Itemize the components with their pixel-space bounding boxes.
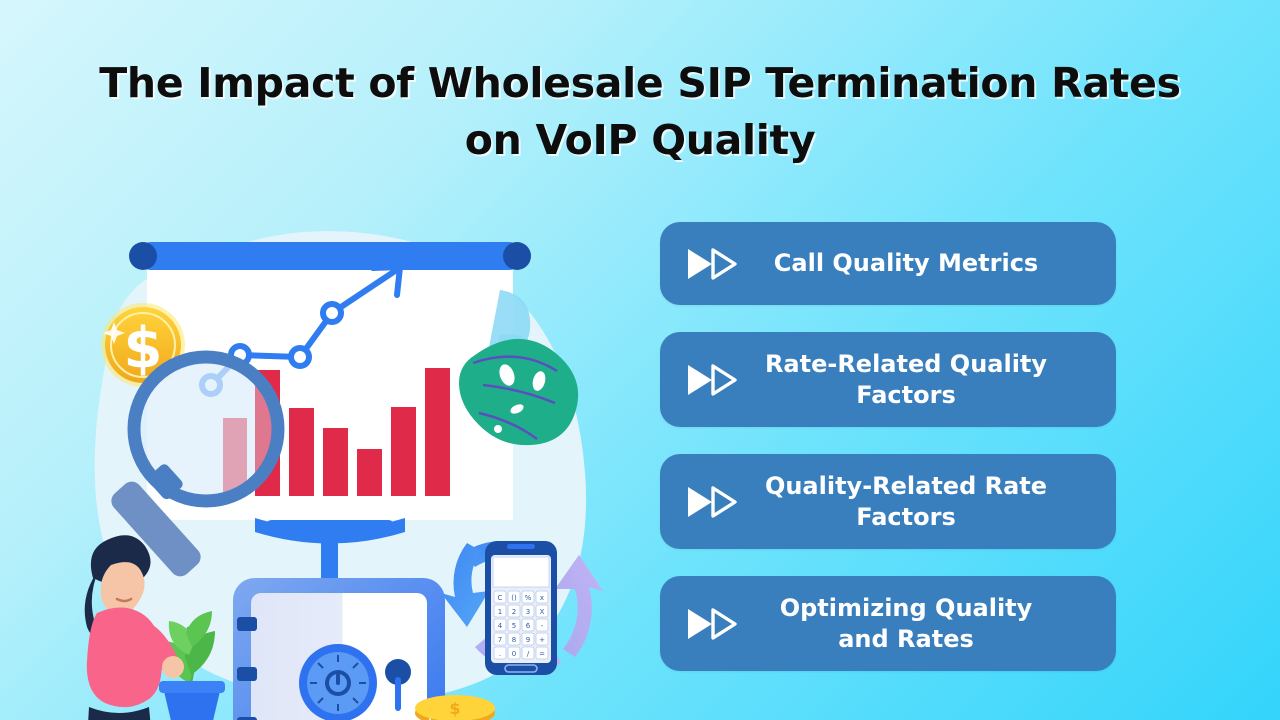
svg-text:x: x xyxy=(540,594,544,602)
double-play-arrow-icon xyxy=(680,363,746,397)
svg-text:6: 6 xyxy=(526,622,531,630)
svg-text:3: 3 xyxy=(526,608,530,616)
safe-dial xyxy=(299,644,377,720)
topic-button-label: Quality-Related Rate Factors xyxy=(746,471,1116,533)
topic-button-label: Call Quality Metrics xyxy=(746,248,1116,279)
svg-text:+: + xyxy=(539,636,545,644)
topic-button-label-line-2: Factors xyxy=(856,503,956,531)
svg-text:.: . xyxy=(499,650,501,658)
page-title: The Impact of Wholesale SIP Termination … xyxy=(90,55,1190,169)
topic-button-optimizing-quality-and-rates[interactable]: Optimizing Quality and Rates xyxy=(660,576,1116,671)
topic-button-list: Call Quality Metrics Rate-Related Qualit… xyxy=(660,222,1116,698)
topic-button-label-line-1: Quality-Related Rate xyxy=(765,472,1047,500)
double-play-arrow-icon xyxy=(680,485,746,519)
coin-stacks: $ $ xyxy=(413,695,565,720)
svg-text:4: 4 xyxy=(498,622,503,630)
topic-button-rate-related-quality-factors[interactable]: Rate-Related Quality Factors xyxy=(660,332,1116,427)
financial-analysis-illustration: $ xyxy=(55,185,635,720)
page-title-line-2: on VoIP Quality xyxy=(90,112,1190,169)
svg-text:$: $ xyxy=(449,699,460,718)
topic-button-call-quality-metrics[interactable]: Call Quality Metrics xyxy=(660,222,1116,305)
page-title-line-1: The Impact of Wholesale SIP Termination … xyxy=(90,55,1190,112)
safe-vault xyxy=(233,578,445,720)
svg-text:5: 5 xyxy=(512,622,516,630)
svg-text:8: 8 xyxy=(512,636,516,644)
topic-button-label: Rate-Related Quality Factors xyxy=(746,349,1116,411)
topic-button-label-line-1: Optimizing Quality xyxy=(780,594,1033,622)
svg-text:X: X xyxy=(540,608,545,616)
svg-text:C: C xyxy=(498,594,503,602)
svg-text:=: = xyxy=(539,650,545,658)
svg-text:9: 9 xyxy=(526,636,530,644)
poster-canvas: $ xyxy=(0,0,1280,720)
topic-button-label-line-2: and Rates xyxy=(838,625,974,653)
svg-text:0: 0 xyxy=(512,650,516,658)
svg-text:(): () xyxy=(511,594,517,602)
topic-button-label-line-1: Rate-Related Quality xyxy=(765,350,1047,378)
svg-text:7: 7 xyxy=(498,636,502,644)
topic-button-label: Optimizing Quality and Rates xyxy=(746,593,1116,655)
svg-text:%: % xyxy=(525,594,532,602)
smartphone-calculator: C() %x 12 3X 45 6- 78 9+ .0 /= xyxy=(485,541,557,675)
topic-button-quality-related-rate-factors[interactable]: Quality-Related Rate Factors xyxy=(660,454,1116,549)
double-play-arrow-icon xyxy=(680,247,746,281)
topic-button-label-line-2: Factors xyxy=(856,381,956,409)
svg-text:1: 1 xyxy=(498,608,502,616)
double-play-arrow-icon xyxy=(680,607,746,641)
svg-text:2: 2 xyxy=(512,608,516,616)
